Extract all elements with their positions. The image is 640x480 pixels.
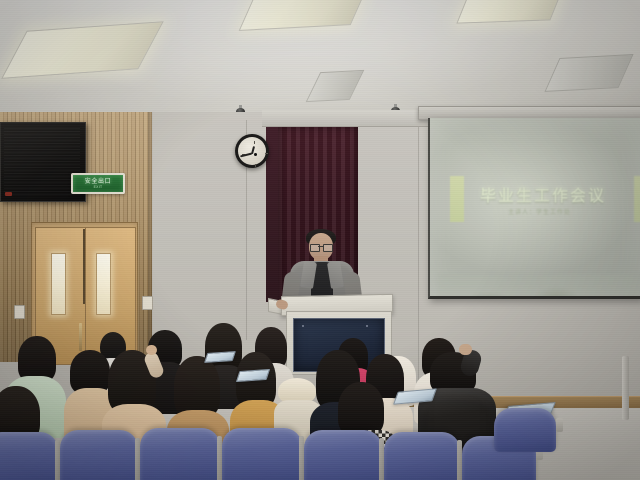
monitor-indicator xyxy=(366,325,368,327)
slide-accent-bar-right xyxy=(634,176,640,222)
projector-screen-icon: 毕业生工作会议 主讲人：学生工作处 xyxy=(428,118,640,299)
door-glass-panel xyxy=(96,253,111,315)
glasses-bridge xyxy=(318,246,323,247)
slide-photo-region xyxy=(438,274,640,299)
light-switch[interactable] xyxy=(142,296,153,310)
slide-title: 毕业生工作会议 xyxy=(480,182,606,206)
ceiling-light-panel xyxy=(456,0,565,24)
clock-face xyxy=(238,137,266,165)
exit-sign-english: EXIT xyxy=(94,185,103,189)
auditorium-seat[interactable] xyxy=(60,430,138,480)
person-hair xyxy=(338,382,384,436)
auditorium-seat[interactable] xyxy=(0,432,58,480)
speaker-grill xyxy=(4,127,80,195)
slide-accent-bar-left xyxy=(450,176,464,222)
door-handle[interactable] xyxy=(79,323,82,351)
auditorium-seat[interactable] xyxy=(140,428,220,480)
auditorium-seat[interactable] xyxy=(304,430,382,480)
door-seam xyxy=(83,229,85,304)
exit-icon: 安全出口 EXIT xyxy=(71,173,125,194)
exit-sign-chinese: 安全出口 xyxy=(85,178,111,185)
wall-edge xyxy=(418,118,419,398)
wood-wall-edge xyxy=(148,112,153,362)
clock-center-pin xyxy=(254,153,257,156)
speaker-led xyxy=(5,192,12,196)
clock-tick xyxy=(255,164,256,167)
monitor-indicator xyxy=(302,325,304,327)
slide-content: 毕业生工作会议 主讲人：学生工作处 xyxy=(438,170,640,296)
clock-tick xyxy=(265,153,268,154)
seat-armrest xyxy=(556,418,563,432)
light-switch[interactable] xyxy=(14,305,25,319)
aisle-post xyxy=(622,356,629,420)
lecture-hall-photo: 安全出口 EXIT 毕业生工作会议 主讲人：学生工作处 xyxy=(0,0,640,480)
audience-hand xyxy=(459,344,472,355)
clock-tick xyxy=(254,141,255,144)
auditorium-seat[interactable] xyxy=(222,428,302,480)
clock-icon xyxy=(235,134,269,168)
glasses-icon xyxy=(310,244,332,250)
person-hair xyxy=(174,356,220,418)
auditorium-seat-empty[interactable] xyxy=(494,408,556,452)
glasses-lens-right xyxy=(323,244,333,252)
slide-subtitle: 主讲人：学生工作处 xyxy=(508,207,571,216)
door-glass-panel xyxy=(51,253,66,315)
auditorium-seat[interactable] xyxy=(384,432,460,480)
